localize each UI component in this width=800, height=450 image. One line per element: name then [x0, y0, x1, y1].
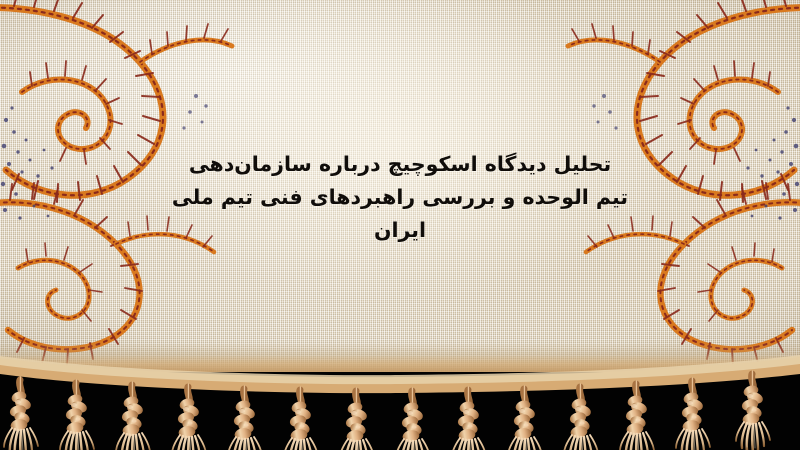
- boteh-scroll-outer: [0, 0, 163, 202]
- black-backdrop: [0, 372, 800, 450]
- title-line-2: تیم الوحده و بررسی راهبردهای فنی تیم ملی: [165, 181, 635, 214]
- boteh-spiral-inner: [22, 61, 122, 164]
- embroidery-navy-cluster: [182, 94, 207, 130]
- embroidery-navy-accents: [1, 106, 54, 219]
- fabric-hem-shadow: [0, 342, 800, 372]
- title-line-1: تحلیل دیدگاه اسکوچیچ درباره سازمان‌دهی: [165, 148, 635, 181]
- page-title: تحلیل دیدگاه اسکوچیچ درباره سازمان‌دهی ت…: [165, 148, 635, 247]
- boteh-spiral-lower: [18, 243, 102, 321]
- title-line-3: ایران: [165, 214, 635, 247]
- boteh-scroll-lower: [0, 183, 142, 366]
- title-card-canvas: تحلیل دیدگاه اسکوچیچ درباره سازمان‌دهی ت…: [0, 0, 800, 450]
